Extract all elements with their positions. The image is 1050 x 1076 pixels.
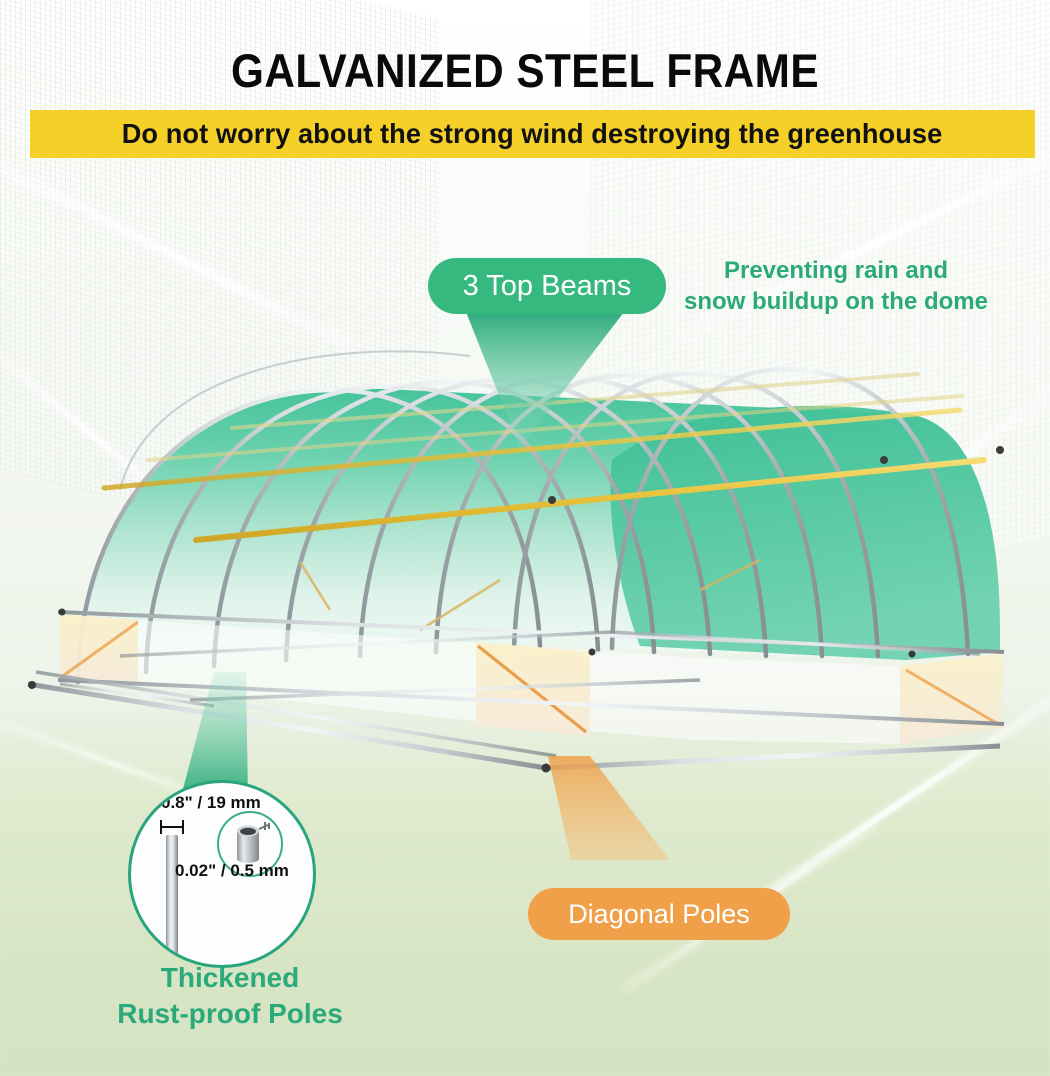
dome-note: Preventing rain and snow buildup on the … [676,255,996,317]
callout-diagonal-poles-label: Diagonal Poles [568,899,750,930]
subtitle-banner: Do not worry about the strong wind destr… [30,110,1035,158]
callout-top-beams-label: 3 Top Beams [463,270,632,303]
steel-pole-sample [166,835,178,957]
callout-cone-diagonal-poles [548,756,700,860]
pole-thickness-label: 0.02" / 0.5 mm [175,861,289,881]
pole-detail-circle: 0.8" / 19 mm [128,780,316,968]
dome-note-line2: snow buildup on the dome [676,286,996,317]
pole-diameter-label: 0.8" / 19 mm [161,793,261,813]
infographic-root: GALVANIZED STEEL FRAME Do not worry abou… [0,0,1050,1076]
page-title: GALVANIZED STEEL FRAME [53,44,998,98]
diameter-caliper-icon [159,819,185,835]
subtitle-text: Do not worry about the strong wind destr… [122,118,943,150]
callout-top-beams[interactable]: 3 Top Beams [428,258,666,314]
poles-note: Thickened Rust-proof Poles [60,960,400,1032]
dome-note-line1: Preventing rain and [676,255,996,286]
callout-diagonal-poles[interactable]: Diagonal Poles [528,888,790,940]
poles-note-line2: Rust-proof Poles [60,996,400,1032]
